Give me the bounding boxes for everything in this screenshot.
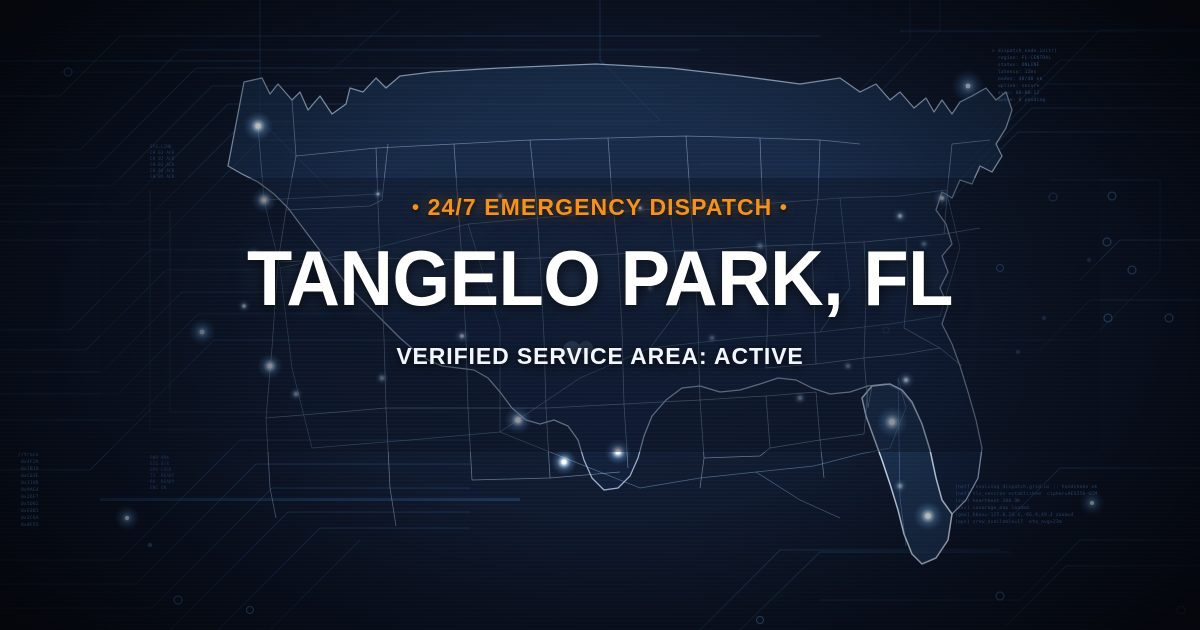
- page-title: TANGELO PARK, FL: [30, 239, 1170, 319]
- hero-banner: > dispatch_node.init() region: FL-CENTRA…: [0, 0, 1200, 630]
- hero-text-block: • 24/7 EMERGENCY DISPATCH • TANGELO PARK…: [0, 196, 1200, 368]
- eyebrow-label: • 24/7 EMERGENCY DISPATCH •: [0, 196, 1200, 219]
- bullet-right-icon: •: [780, 197, 788, 219]
- bullet-left-icon: •: [412, 197, 420, 219]
- eyebrow-text: 24/7 EMERGENCY DISPATCH: [428, 194, 773, 220]
- status-badge: VERIFIED SERVICE AREA: ACTIVE: [0, 345, 1200, 368]
